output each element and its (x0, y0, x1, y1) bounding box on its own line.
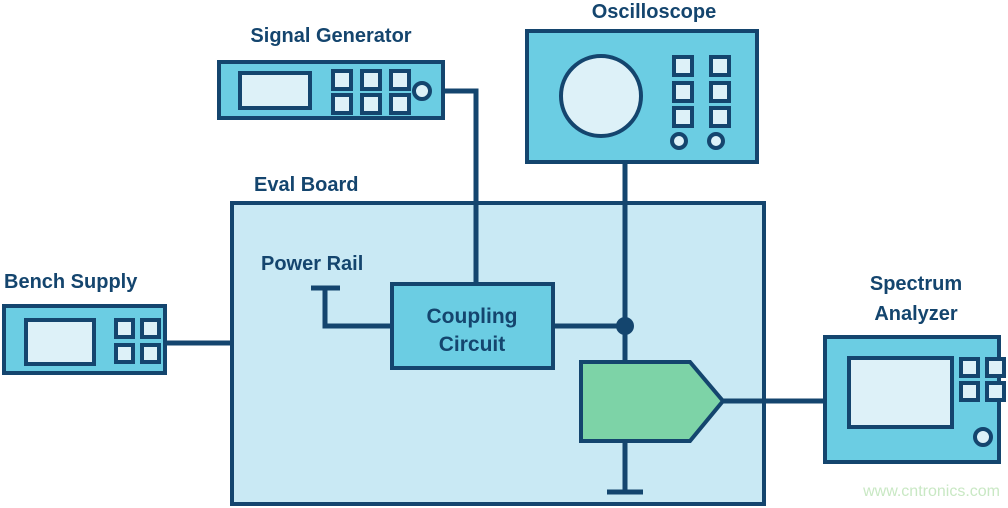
signal-generator-button[interactable] (362, 71, 380, 89)
signal-generator-button[interactable] (362, 95, 380, 113)
watermark: www.cntronics.com (862, 483, 1000, 500)
oscilloscope-button[interactable] (674, 83, 692, 101)
power-rail-label: Power Rail (261, 253, 363, 275)
bench-supply-label: Bench Supply (4, 271, 138, 293)
signal-generator-label: Signal Generator (250, 25, 411, 47)
oscilloscope-screen (561, 56, 641, 136)
bench-supply-button[interactable] (142, 345, 159, 362)
spectrum-analyzer-label-line1: Spectrum (870, 273, 962, 295)
bench-supply-screen (26, 320, 94, 364)
signal-junction-dot (616, 317, 634, 335)
oscilloscope-button[interactable] (711, 108, 729, 126)
signal-generator-knob[interactable] (414, 83, 430, 99)
block-diagram: Eval Board Power (0, 0, 1008, 508)
spectrum-analyzer-button[interactable] (961, 359, 978, 376)
bench-supply-button[interactable] (116, 345, 133, 362)
coupling-circuit-label-line1: Coupling (427, 305, 518, 328)
spectrum-analyzer-label-line2: Analyzer (874, 303, 958, 325)
bench-supply-button[interactable] (142, 320, 159, 337)
signal-generator-button[interactable] (333, 71, 351, 89)
diagram-canvas: Eval Board Power (0, 0, 1008, 508)
spectrum-analyzer-screen (849, 358, 952, 427)
oscilloscope-label: Oscilloscope (592, 1, 717, 23)
spectrum-analyzer-button[interactable] (987, 359, 1004, 376)
signal-generator-screen (240, 73, 310, 108)
oscilloscope-button[interactable] (711, 57, 729, 75)
oscilloscope-knob[interactable] (672, 134, 686, 148)
spectrum-analyzer-button[interactable] (961, 383, 978, 400)
signal-generator-button[interactable] (391, 95, 409, 113)
spectrum-analyzer-knob[interactable] (975, 429, 991, 445)
coupling-circuit-block[interactable]: Coupling Circuit (392, 284, 553, 368)
oscilloscope-button[interactable] (711, 83, 729, 101)
coupling-circuit-label-line2: Circuit (439, 333, 506, 356)
oscilloscope-knob[interactable] (709, 134, 723, 148)
signal-generator-button[interactable] (391, 71, 409, 89)
dut-amplifier-shape[interactable] (581, 362, 723, 441)
spectrum-analyzer[interactable]: Spectrum Analyzer (825, 273, 1004, 462)
signal-generator[interactable]: Signal Generator (219, 25, 443, 118)
oscilloscope-button[interactable] (674, 108, 692, 126)
signal-generator-button[interactable] (333, 95, 351, 113)
bench-supply[interactable]: Bench Supply (4, 271, 165, 373)
oscilloscope[interactable]: Oscilloscope (527, 1, 757, 162)
oscilloscope-button[interactable] (674, 57, 692, 75)
bench-supply-button[interactable] (116, 320, 133, 337)
eval-board-label: Eval Board (254, 174, 358, 196)
dut-amplifier-block[interactable] (581, 362, 723, 441)
spectrum-analyzer-button[interactable] (987, 383, 1004, 400)
